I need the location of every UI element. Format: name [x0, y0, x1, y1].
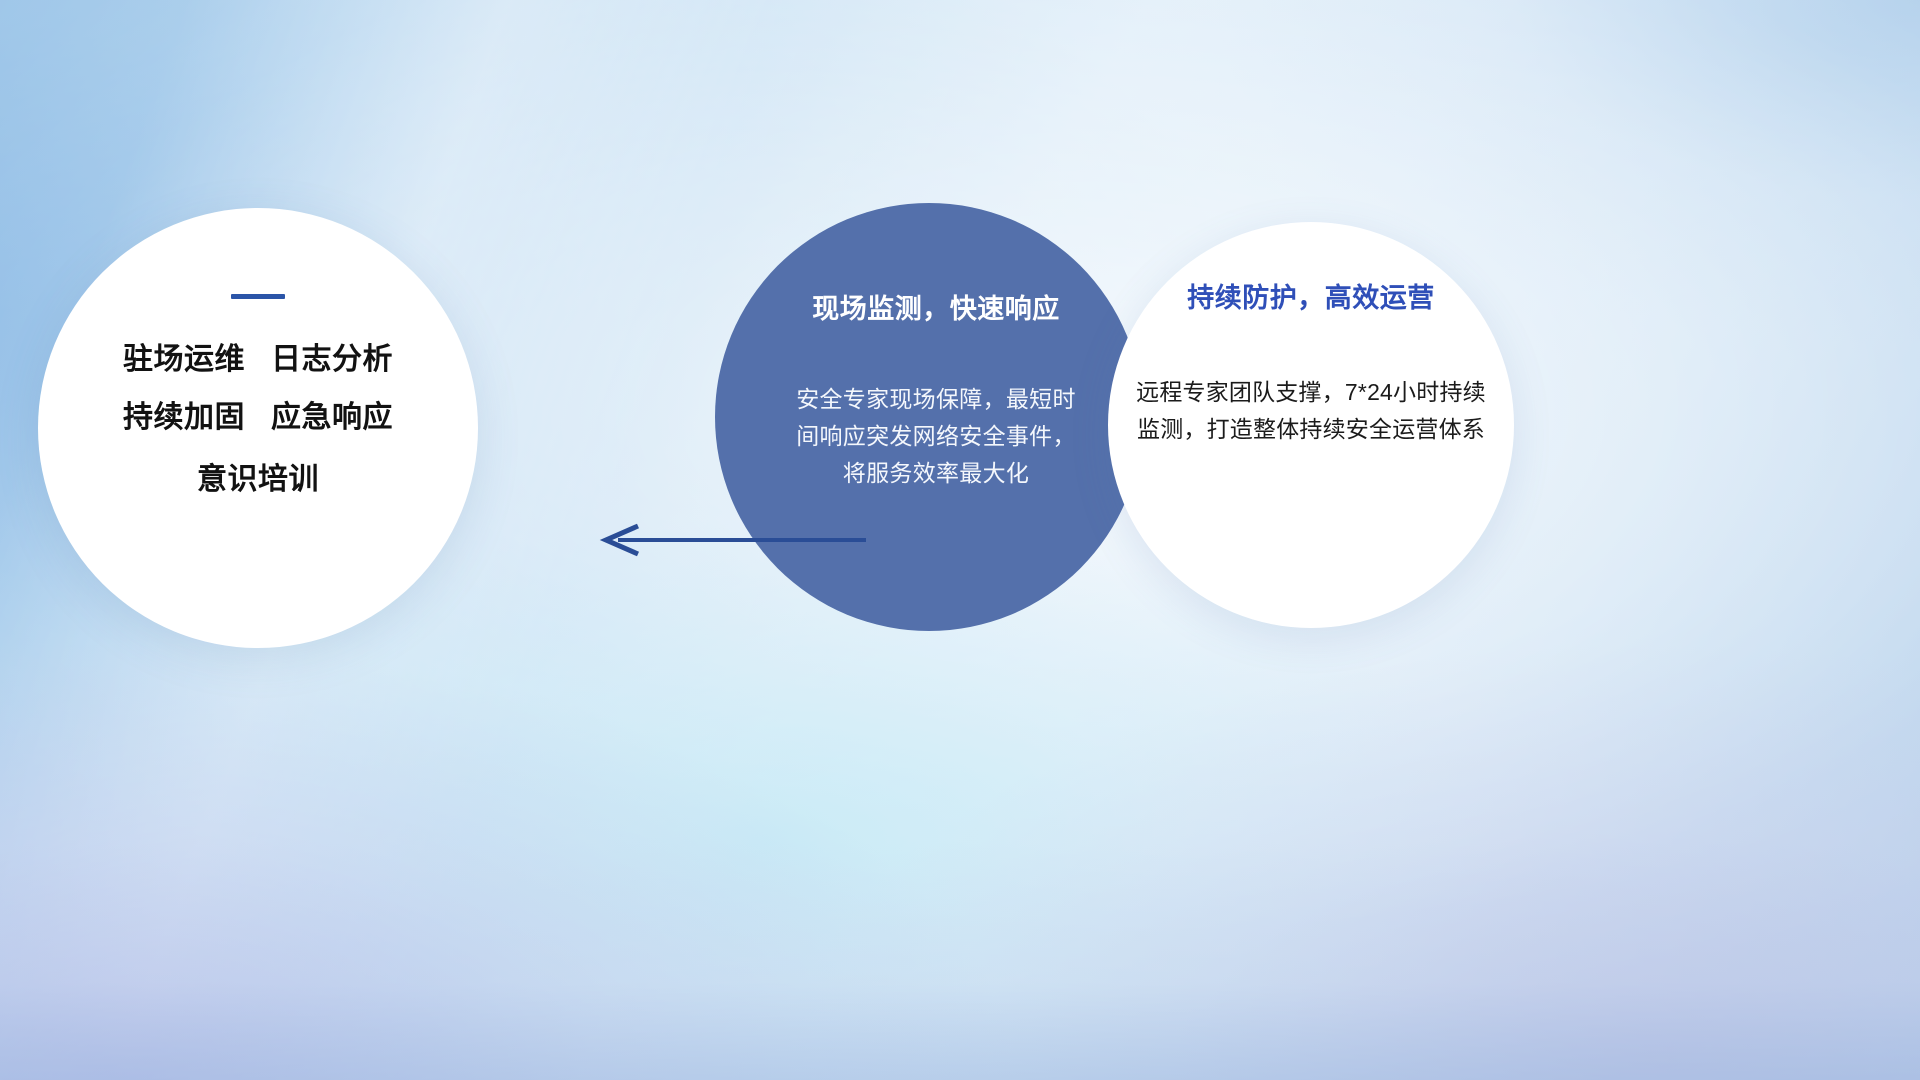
left-card-tag: 意识培训 — [197, 465, 319, 495]
middle-card: 现场监测，快速响应 安全专家现场保障，最短时间响应突发网络安全事件，将服务效率最… — [715, 203, 1143, 631]
left-card-tag: 驻场运维 — [123, 345, 245, 375]
middle-card-title: 现场监测，快速响应 — [812, 295, 1060, 325]
slide-canvas: 驻场运维 日志分析 持续加固 应急响应 意识培训 现场监测，快速响应 安全专家现… — [0, 0, 1920, 1080]
middle-card-body: 安全专家现场保障，最短时间响应突发网络安全事件，将服务效率最大化 — [786, 381, 1086, 493]
right-card-title: 持续防护，高效运营 — [1187, 284, 1435, 314]
left-card-tag: 持续加固 — [123, 403, 245, 433]
right-card-body: 远程专家团队支撑，7*24小时持续监测，打造整体持续安全运营体系 — [1134, 374, 1488, 449]
right-card: 持续防护，高效运营 远程专家团队支撑，7*24小时持续监测，打造整体持续安全运营… — [1108, 222, 1514, 628]
left-card-tag: 应急响应 — [271, 403, 393, 433]
left-card-row: 意识培训 — [197, 465, 319, 495]
left-card-row: 驻场运维 日志分析 — [123, 345, 393, 375]
left-card-row: 持续加固 应急响应 — [123, 403, 393, 433]
left-card-divider — [231, 294, 285, 299]
left-card: 驻场运维 日志分析 持续加固 应急响应 意识培训 — [38, 208, 478, 648]
left-card-tag: 日志分析 — [271, 345, 393, 375]
